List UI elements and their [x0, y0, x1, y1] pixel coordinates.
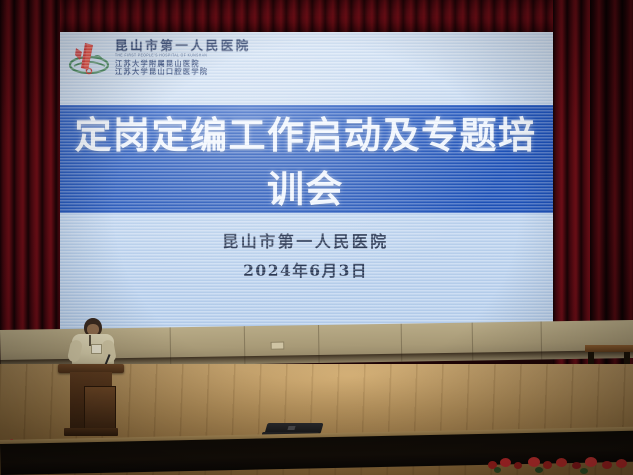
hospital-name-en: THE FIRST PEOPLE'S HOSPITAL OF KUNSHAN [115, 54, 251, 58]
lectern-body [70, 372, 112, 430]
lectern [62, 364, 120, 436]
hospital-logo-block: 昆山市第一人民医院 THE FIRST PEOPLE'S HOSPITAL OF… [68, 40, 251, 76]
hospital-affiliation-1: 江苏大学附属昆山医院 [115, 60, 251, 67]
speaker-badge [287, 426, 295, 430]
conference-hall-photo: 昆山市第一人民医院 THE FIRST PEOPLE'S HOSPITAL OF… [0, 0, 633, 475]
hospital-affiliation-2: 江苏大学昆山口腔医学院 [115, 68, 251, 75]
slide-footer-organization: 昆山市第一人民医院 [56, 228, 555, 252]
lectern-front-panel [84, 386, 116, 430]
presenter-badge [91, 344, 102, 354]
hospital-name-cn: 昆山市第一人民医院 [115, 40, 251, 53]
led-presentation-screen: 昆山市第一人民医院 THE FIRST PEOPLE'S HOSPITAL OF… [56, 32, 555, 332]
decorative-red-flowers [480, 455, 633, 475]
hospital-logo-texts: 昆山市第一人民医院 THE FIRST PEOPLE'S HOSPITAL OF… [115, 40, 251, 75]
hospital-sail-emblem-icon [68, 40, 110, 76]
slide-footer-date: 2024年6月3日 [56, 259, 555, 281]
slide-title: 定岗定编工作启动及专题培训会 [56, 105, 555, 213]
slide-footer: 昆山市第一人民医院 2024年6月3日 [56, 228, 555, 281]
wall-vent [271, 342, 285, 350]
slide-title-band: 定岗定编工作启动及专题培训会 [56, 105, 555, 213]
